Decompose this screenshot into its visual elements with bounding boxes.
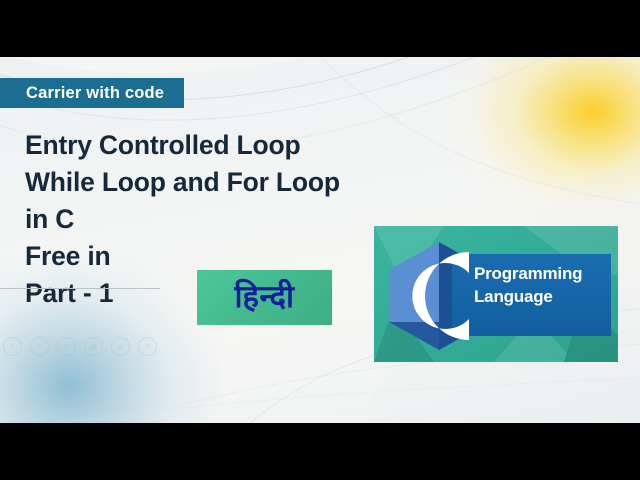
link-icon: ⧉ [111,337,130,356]
facebook-icon: f [3,337,22,356]
instagram-icon-glyph: ▣ [90,343,98,351]
share-icon-glyph: ↗ [144,343,151,351]
letterbox-top-bar [0,0,640,57]
channel-badge: Carrier with code [0,78,184,108]
link-icon-glyph: ⧉ [118,343,124,351]
ghost-social-icon-row: f t ✐ ▣ ⧉ ↗ [3,337,157,356]
video-player-frame: Carrier with code Entry Controlled Loop … [0,0,640,480]
pencil-icon: ✐ [57,337,76,356]
instagram-icon: ▣ [84,337,103,356]
letterbox-bottom-bar [0,423,640,480]
logo-banner-line-1: Programming [474,262,614,285]
title-line-2: While Loop and For Loop [25,164,465,201]
yellow-glow-decoration [450,57,640,221]
facebook-icon-glyph: f [11,343,14,351]
twitter-icon-glyph: t [38,343,41,351]
hindi-chip-label: हिन्दी [234,282,294,313]
logo-banner-text: Programming Language [474,262,614,308]
hindi-language-chip: हिन्दी [197,270,332,325]
presentation-slide: Carrier with code Entry Controlled Loop … [0,57,640,423]
title-divider [0,288,160,289]
title-line-1: Entry Controlled Loop [25,127,465,164]
share-icon: ↗ [138,337,157,356]
c-letter-glyph [398,252,482,340]
channel-badge-label: Carrier with code [26,84,164,103]
pencil-icon-glyph: ✐ [63,343,70,351]
c-programming-logo-card: Programming Language [374,226,618,362]
twitter-icon: t [30,337,49,356]
logo-banner-line-2: Language [474,285,614,308]
